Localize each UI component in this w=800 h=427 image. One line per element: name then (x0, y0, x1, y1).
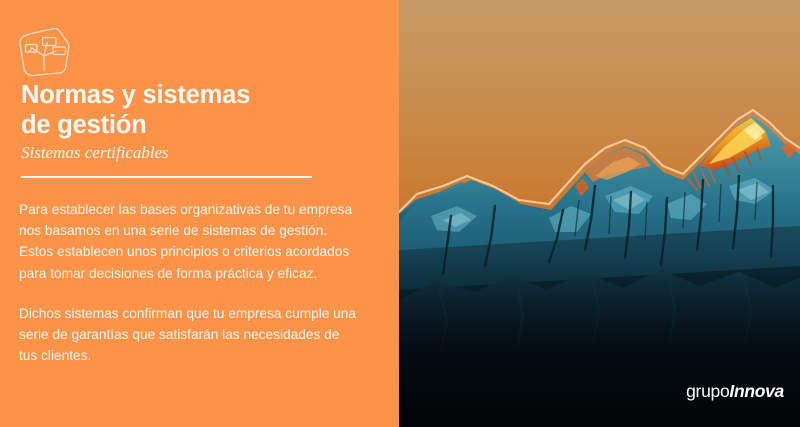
page-subtitle: Sistemas certificables (21, 143, 169, 163)
left-text-panel: Normas y sistemas de gestión Sistemas ce… (0, 0, 399, 427)
paragraph-1: Para establecer las bases organizativas … (19, 199, 359, 284)
snowy-mountain-range-image (399, 0, 800, 427)
title-line-2: de gestión (21, 110, 371, 140)
logo-text-grupo: grupo (686, 381, 729, 401)
page-title: Normas y sistemas de gestión (21, 80, 371, 140)
slide-root: Normas y sistemas de gestión Sistemas ce… (0, 0, 800, 427)
title-line-1: Normas y sistemas (21, 80, 371, 110)
org-chart-blob-icon (17, 26, 71, 78)
mountain-photo-panel: grupoInnova (399, 0, 800, 427)
paragraph-2: Dichos sistemas confirman que tu empresa… (19, 303, 359, 367)
title-divider-rule (21, 176, 312, 178)
body-copy: Para establecer las bases organizativas … (19, 199, 359, 366)
grupo-innova-logo: grupoInnova (686, 382, 784, 401)
logo-text-innova: Innova (729, 381, 784, 401)
